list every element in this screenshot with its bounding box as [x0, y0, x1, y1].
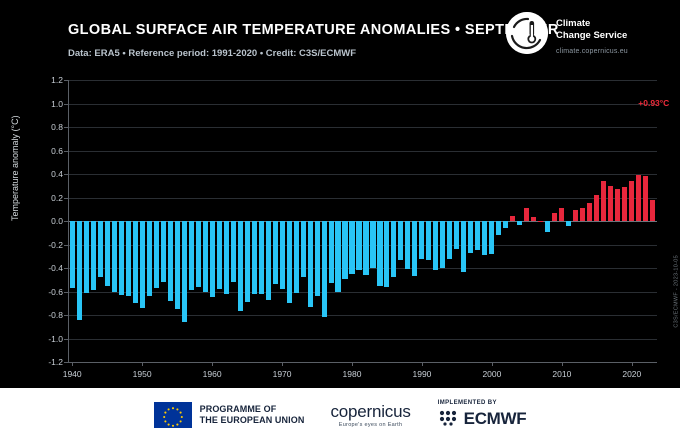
- bar: [405, 221, 410, 269]
- c3s-logo-text: Climate Change Service: [556, 18, 627, 41]
- gridline: [68, 127, 657, 128]
- y-tick-label: -0.4: [21, 263, 63, 273]
- bar: [482, 221, 487, 255]
- bar: [133, 221, 138, 303]
- bar: [112, 221, 117, 292]
- gridline: [68, 151, 657, 152]
- x-axis-line: [68, 362, 657, 363]
- y-tick-label: 0.0: [21, 216, 63, 226]
- bar: [238, 221, 243, 311]
- bar: [475, 221, 480, 250]
- copernicus-c3s-logo: Climate Change Service climate.copernicu…: [506, 12, 666, 66]
- x-tick-label: 2020: [622, 369, 641, 379]
- x-tick-label: 2010: [552, 369, 571, 379]
- bar: [203, 221, 208, 292]
- x-tick-mark: [562, 362, 563, 366]
- chart-page: GLOBAL SURFACE AIR TEMPERATURE ANOMALIES…: [0, 0, 680, 442]
- bar: [224, 221, 229, 294]
- copernicus-wordmark: copernicus: [330, 403, 410, 421]
- bar: [629, 181, 634, 221]
- value-annotation: +0.93°C: [638, 98, 669, 108]
- bar: [98, 221, 103, 277]
- y-tick-label: -0.6: [21, 287, 63, 297]
- bar: [77, 221, 82, 320]
- bar: [210, 221, 215, 297]
- bar: [377, 221, 382, 286]
- footer-bar: PROGRAMME OF THE EUROPEAN UNION copernic…: [0, 388, 680, 442]
- bar: [356, 221, 361, 270]
- gridline: [68, 174, 657, 175]
- bar: [349, 221, 354, 274]
- ecmwf-wordmark: ECMWF: [464, 409, 527, 429]
- bar: [126, 221, 131, 296]
- bar: [573, 210, 578, 221]
- x-tick-label: 1940: [63, 369, 82, 379]
- bar: [461, 221, 466, 272]
- bar: [510, 216, 515, 221]
- bar: [266, 221, 271, 300]
- y-tick-label: -1.0: [21, 334, 63, 344]
- x-tick-mark: [212, 362, 213, 366]
- chart-plot-area: -1.2-1.0-0.8-0.6-0.4-0.20.00.20.40.60.81…: [68, 80, 657, 362]
- gridline: [68, 292, 657, 293]
- bar: [398, 221, 403, 260]
- y-tick-label: 1.2: [21, 75, 63, 85]
- bar: [308, 221, 313, 307]
- bar: [252, 221, 257, 294]
- eu-flag-icon: [154, 402, 192, 428]
- gridline: [68, 315, 657, 316]
- bar: [259, 221, 264, 294]
- bar: [559, 208, 564, 221]
- bar: [91, 221, 96, 290]
- bar: [601, 181, 606, 221]
- y-tick-label: 0.4: [21, 169, 63, 179]
- bar: [245, 221, 250, 302]
- bar: [189, 221, 194, 290]
- ecmwf-logo: IMPLEMENTED BY: [437, 400, 527, 431]
- x-tick-label: 2000: [482, 369, 501, 379]
- x-tick-mark: [142, 362, 143, 366]
- x-tick-mark: [282, 362, 283, 366]
- x-tick-label: 1980: [343, 369, 362, 379]
- bar: [231, 221, 236, 282]
- x-tick-mark: [492, 362, 493, 366]
- bar: [280, 221, 285, 289]
- bar: [545, 221, 550, 232]
- bar: [496, 221, 501, 235]
- bar: [119, 221, 124, 295]
- eu-line-1: PROGRAMME OF: [200, 404, 305, 415]
- eu-programme-text: PROGRAMME OF THE EUROPEAN UNION: [200, 404, 305, 426]
- bar: [489, 221, 494, 254]
- bar: [175, 221, 180, 309]
- bar: [503, 221, 508, 228]
- bar: [329, 221, 334, 283]
- copernicus-tagline: Europe's eyes on Earth: [339, 422, 403, 428]
- bar: [217, 221, 222, 289]
- implemented-by-label: IMPLEMENTED BY: [438, 400, 497, 406]
- bar: [650, 200, 655, 221]
- c3s-logo-line1: Climate: [556, 18, 627, 30]
- bar: [636, 175, 641, 221]
- gridline: [68, 339, 657, 340]
- bar: [566, 221, 571, 226]
- gridline: [68, 80, 657, 81]
- bar: [322, 221, 327, 317]
- bar: [608, 186, 613, 221]
- y-tick-label: -0.8: [21, 310, 63, 320]
- bar: [294, 221, 299, 293]
- bar: [342, 221, 347, 279]
- bar: [524, 208, 529, 221]
- x-tick-mark: [632, 362, 633, 366]
- bar: [335, 221, 340, 292]
- bar: [433, 221, 438, 270]
- y-tick-label: 0.6: [21, 146, 63, 156]
- x-tick-mark: [72, 362, 73, 366]
- page-title: GLOBAL SURFACE AIR TEMPERATURE ANOMALIES…: [68, 22, 559, 38]
- bar: [594, 195, 599, 221]
- eu-line-2: THE EUROPEAN UNION: [200, 415, 305, 426]
- bar: [140, 221, 145, 308]
- eu-programme-logo: PROGRAMME OF THE EUROPEAN UNION: [154, 402, 305, 428]
- bar: [105, 221, 110, 286]
- gridline: [68, 198, 657, 199]
- y-tick-label: 0.2: [21, 193, 63, 203]
- x-tick-mark: [352, 362, 353, 366]
- x-tick-label: 1990: [412, 369, 431, 379]
- bar: [419, 221, 424, 259]
- bar: [643, 176, 648, 221]
- bar: [426, 221, 431, 260]
- y-axis-label: Temperature anomaly (°C): [10, 115, 20, 221]
- bar: [412, 221, 417, 276]
- x-tick-label: 1970: [273, 369, 292, 379]
- y-tick-label: 1.0: [21, 99, 63, 109]
- x-tick-mark: [422, 362, 423, 366]
- bar: [447, 221, 452, 259]
- bar: [580, 208, 585, 221]
- bar: [587, 203, 592, 221]
- bar: [454, 221, 459, 249]
- bar: [384, 221, 389, 287]
- bar: [440, 221, 445, 268]
- bar: [531, 217, 536, 221]
- bar: [196, 221, 201, 287]
- bar: [391, 221, 396, 277]
- bar: [517, 221, 522, 225]
- gridline: [68, 104, 657, 105]
- side-credit-text: C3S/ECMWF - 2023-10-05: [674, 255, 680, 328]
- x-tick-label: 1950: [133, 369, 152, 379]
- bar: [315, 221, 320, 296]
- bar: [182, 221, 187, 322]
- y-tick-label: 0.8: [21, 122, 63, 132]
- bar: [622, 187, 627, 221]
- ecmwf-logo-icon: [437, 408, 459, 431]
- bar: [70, 221, 75, 288]
- bar: [161, 221, 166, 282]
- bar: [538, 221, 543, 222]
- y-tick-label: -1.2: [21, 357, 63, 367]
- bar: [468, 221, 473, 253]
- bar: [168, 221, 173, 301]
- bar: [273, 221, 278, 284]
- y-tick-label: -0.2: [21, 240, 63, 250]
- bar: [301, 221, 306, 277]
- bar: [363, 221, 368, 275]
- thermometer-circle-icon: [506, 12, 548, 54]
- bar: [615, 189, 620, 221]
- x-tick-label: 1960: [203, 369, 222, 379]
- bar: [84, 221, 89, 293]
- c3s-logo-url: climate.copernicus.eu: [556, 48, 628, 55]
- bar: [370, 221, 375, 268]
- bar: [552, 213, 557, 221]
- c3s-logo-line2: Change Service: [556, 30, 627, 42]
- bar: [154, 221, 159, 288]
- bar: [147, 221, 152, 296]
- chart-subtitle: Data: ERA5 • Reference period: 1991-2020…: [68, 48, 356, 59]
- bar: [287, 221, 292, 303]
- copernicus-logo: copernicus Europe's eyes on Earth: [330, 403, 410, 428]
